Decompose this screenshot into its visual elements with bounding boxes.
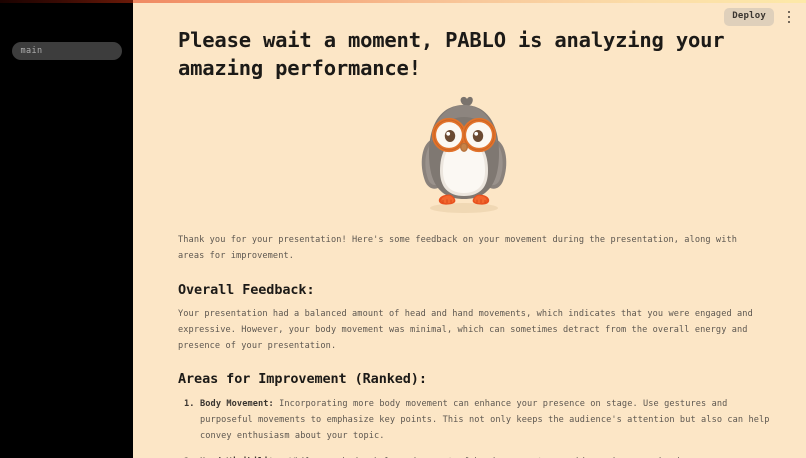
main-panel: Deploy Please wait a moment, PABLO is an…: [133, 0, 806, 458]
penguin-mascot-icon: [409, 95, 519, 215]
kebab-dot-2: [788, 16, 791, 19]
branch-selector-label: main: [21, 46, 43, 56]
lead-paragraph: Thank you for your presentation! Here's …: [178, 233, 763, 265]
list-item-label: Body Movement:: [200, 399, 274, 409]
list-item: 1. Body Movement: Incorporating more bod…: [178, 397, 770, 445]
section-heading-areas-for-improvement: Areas for Improvement (Ranked):: [178, 371, 770, 387]
page-title: Please wait a moment, PABLO is analyzing…: [178, 26, 758, 83]
content-scroll-area: Please wait a moment, PABLO is analyzing…: [133, 0, 806, 458]
sidebar: main: [0, 0, 133, 458]
kebab-menu-icon[interactable]: [782, 8, 796, 26]
section-heading-overall-feedback: Overall Feedback:: [178, 282, 770, 298]
overall-feedback-paragraph: Your presentation had a balanced amount …: [178, 307, 763, 355]
top-accent-rail-right: [133, 0, 806, 3]
kebab-dot-1: [788, 11, 791, 14]
app-root: main Deploy Please wait a moment, PABLO …: [0, 0, 806, 458]
branch-selector-main[interactable]: main: [12, 42, 122, 60]
mascot-container: [158, 95, 770, 215]
topbar-actions: Deploy: [724, 8, 796, 26]
deploy-button[interactable]: Deploy: [724, 8, 774, 26]
list-item-body: Body Movement: Incorporating more body m…: [200, 397, 770, 445]
ranked-improvement-list: 1. Body Movement: Incorporating more bod…: [178, 397, 770, 458]
list-item-text: Incorporating more body movement can enh…: [200, 399, 770, 441]
top-accent-rail-left: [0, 0, 133, 3]
list-item-number: 1.: [178, 397, 200, 445]
kebab-dot-3: [788, 21, 791, 24]
